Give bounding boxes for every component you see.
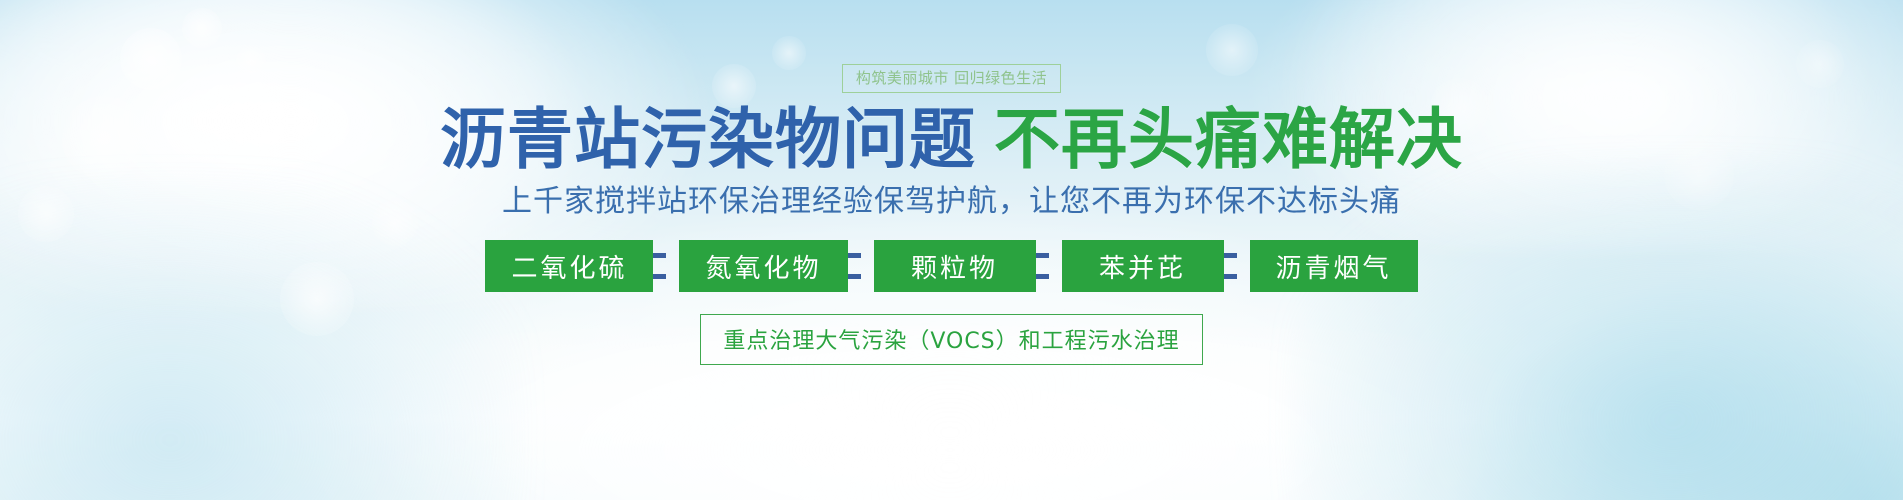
pollutant-tag-label: 苯并芘 [1099,248,1186,285]
pollutant-tag-list: 二氧化硫 氮氧化物 颗粒物 苯并芘 沥青烟气 [485,240,1417,292]
hero-banner: 构筑美丽城市 回归绿色生活 沥青站污染物问题不再头痛难解决 上千家搅拌站环保治理… [0,0,1903,500]
headline-primary-text: 沥青站污染物问题 [440,101,976,178]
pollutant-tag-label: 沥青烟气 [1276,248,1392,285]
tagline-badge: 构筑美丽城市 回归绿色生活 [842,64,1061,93]
pollutant-tag-label: 二氧化硫 [511,248,627,285]
pollutant-tag[interactable]: 苯并芘 [1062,240,1224,292]
pollutant-tag[interactable]: 颗粒物 [874,240,1036,292]
subtitle-text: 上千家搅拌站环保治理经验保驾护航，让您不再为环保不达标头痛 [502,184,1401,220]
page-title: 沥青站污染物问题不再头痛难解决 [440,107,1463,173]
footer-note-badge: 重点治理大气污染（VOCS）和工程污水治理 [700,314,1202,365]
pollutant-tag[interactable]: 氮氧化物 [679,240,847,292]
banner-content: 构筑美丽城市 回归绿色生活 沥青站污染物问题不再头痛难解决 上千家搅拌站环保治理… [0,0,1903,500]
pollutant-tag[interactable]: 二氧化硫 [485,240,653,292]
headline-accent-text: 不再头痛难解决 [994,101,1463,178]
pollutant-tag-label: 颗粒物 [911,248,998,285]
pollutant-tag-label: 氮氧化物 [705,248,821,285]
pollutant-tag[interactable]: 沥青烟气 [1250,240,1418,292]
